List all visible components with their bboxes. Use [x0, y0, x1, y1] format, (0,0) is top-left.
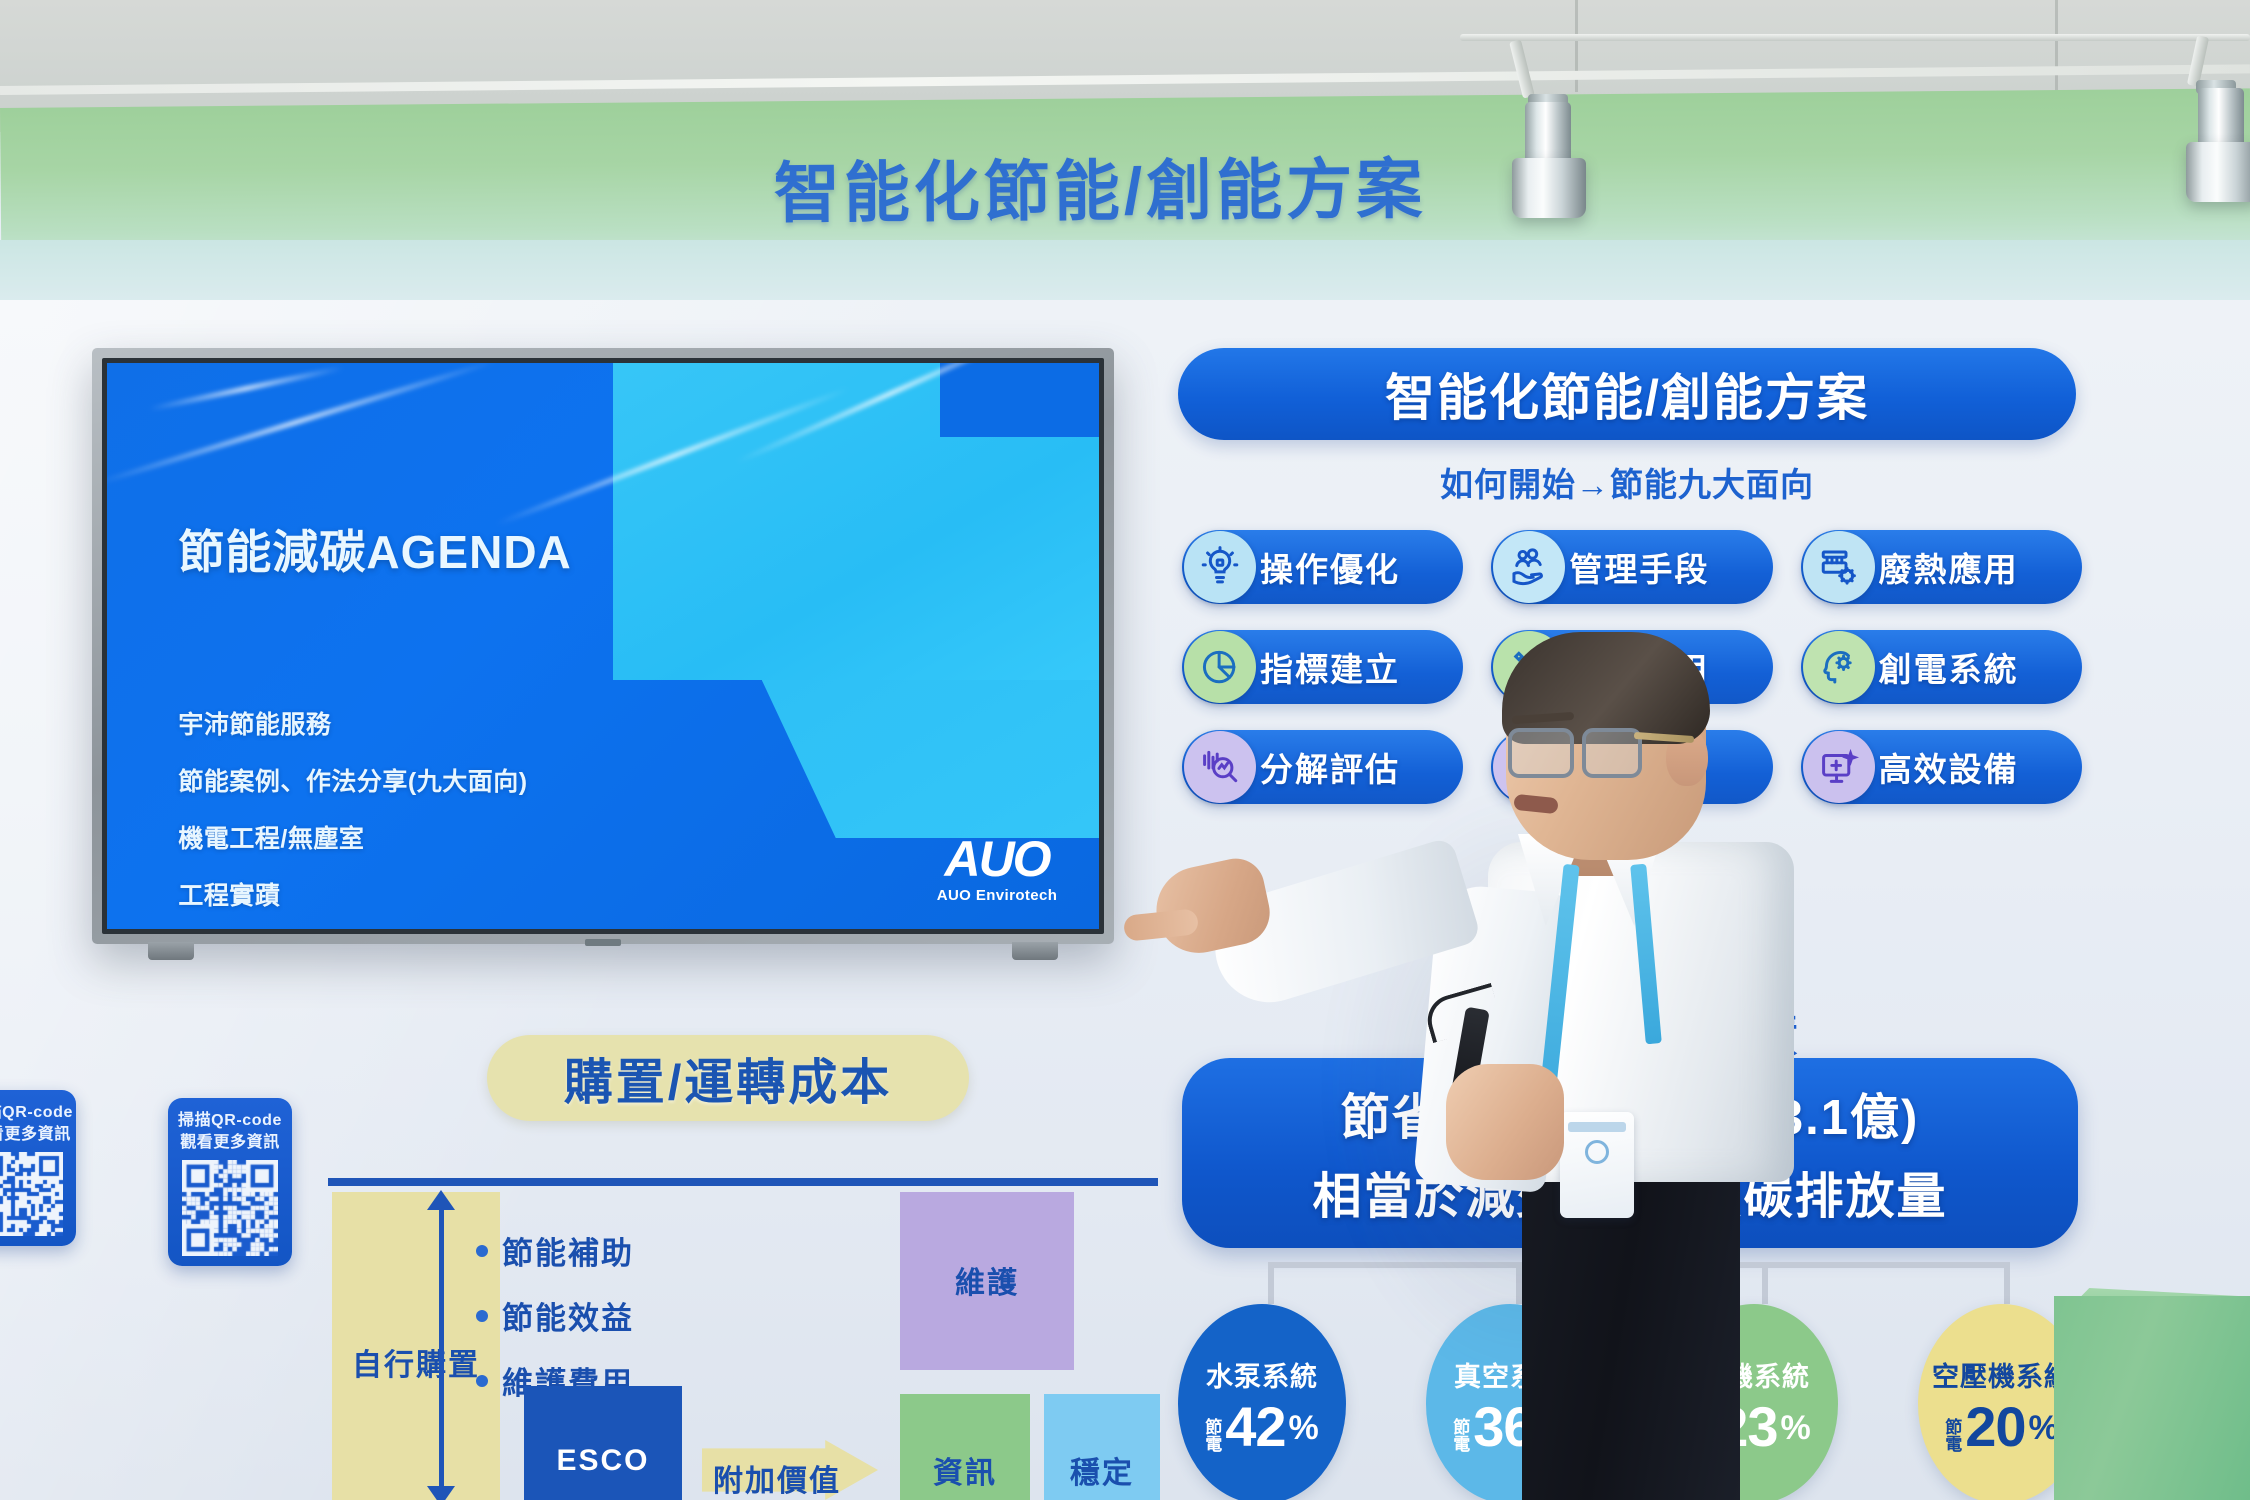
bar-label-maintenance: 維護	[900, 1258, 1074, 1302]
lightbulb-icon	[1184, 531, 1256, 603]
aspect-pill-label: 廢熱應用	[1879, 543, 2019, 591]
poster-header-pill: 智能化節能/創能方案	[1178, 348, 2076, 440]
slide-shape-cyan-lower	[762, 680, 1099, 838]
green-display-block	[2054, 1296, 2250, 1500]
hall-title: 智能化節能/創能方案	[700, 135, 1501, 237]
system-metric-label: 節電	[1205, 1419, 1222, 1453]
exhibition-scene: 智能化節能/創能方案 節能減碳AGENDA 宇沛節能服務 節能案例、作法分享(九…	[0, 0, 2250, 1500]
aspect-pill-3[interactable]: 廢熱應用	[1801, 530, 2082, 604]
lighting-track	[1460, 34, 2250, 41]
bullet-dot-icon	[476, 1375, 488, 1387]
qr-code-image	[0, 1152, 63, 1236]
spotlight-neck	[2198, 88, 2244, 150]
slide-streak	[148, 365, 343, 411]
presenter	[1230, 636, 1850, 1500]
arrow-stem	[439, 1204, 444, 1496]
presenter-glasses-left-lens	[1508, 728, 1574, 778]
monitor-power-led	[585, 939, 621, 946]
qr-card-line1: 掃描QR-code	[178, 1110, 282, 1132]
bar-label-information: 資訊	[900, 1448, 1030, 1492]
qr-card-partial[interactable]: 掃描QR-code 觀看更多資訊	[0, 1090, 76, 1246]
chart-top-rule	[328, 1178, 1158, 1186]
people-hand-icon	[1493, 531, 1565, 603]
bar-information: 資訊	[900, 1394, 1030, 1500]
bar-self-purchase: 自行購置	[332, 1192, 500, 1500]
auo-subtitle: AUO Envirotech	[937, 887, 1058, 904]
cost-section-title: 購置/運轉成本	[487, 1035, 969, 1121]
spotlight-head	[1512, 158, 1586, 218]
spotlight-neck	[1525, 102, 1571, 164]
cost-comparison-chart: 自行購置 節能補助 節能效益 維護費用 ESCO 附加價值 維護 資訊 穩定	[318, 1178, 1158, 1500]
system-name: 空壓機系統	[1932, 1355, 2072, 1394]
aspect-pill-label: 管理手段	[1569, 543, 1709, 591]
savings-bullet-text: 節能補助	[502, 1228, 634, 1273]
system-percent-value: 20	[1965, 1402, 2025, 1452]
poster-header-text: 智能化節能/創能方案	[1385, 358, 1869, 430]
aspect-pill-1[interactable]: 操作優化	[1182, 530, 1463, 604]
savings-bullet: 節能補助	[476, 1228, 634, 1273]
savings-bullet: 節能效益	[476, 1293, 634, 1338]
arrow-head-down-icon	[427, 1486, 455, 1500]
badge-photo-circle	[1585, 1140, 1609, 1164]
presenter-mic-hand	[1446, 1064, 1564, 1180]
spotlight-head	[2186, 142, 2250, 202]
monitor-mount-right	[1012, 942, 1058, 960]
display-monitor: 節能減碳AGENDA 宇沛節能服務 節能案例、作法分享(九大面向) 機電工程/無…	[92, 348, 1114, 944]
savings-bullet-text: 節能效益	[502, 1293, 634, 1338]
auo-logo: AUO AUO Envirotech	[937, 836, 1058, 904]
slide-bullet: 宇沛節能服務	[178, 705, 527, 741]
savings-arrow	[436, 1190, 446, 1500]
slide-streak	[107, 363, 495, 485]
slide-bullet: 工程實蹟	[178, 876, 527, 912]
poster-subtitle: 如何開始→節能九大面向	[1178, 458, 2076, 506]
aspect-pill-label: 高效設備	[1879, 743, 2019, 791]
badge-strip	[1568, 1122, 1626, 1132]
bar-label-self-purchase-line1: 自行購置	[332, 1340, 500, 1384]
qr-card-line1: 掃描QR-code	[0, 1102, 73, 1124]
slide-bullet-list: 宇沛節能服務 節能案例、作法分享(九大面向) 機電工程/無塵室 工程實蹟	[178, 705, 527, 929]
aspect-pill-label: 操作優化	[1260, 543, 1400, 591]
slide-bullet: 節能案例、作法分享(九大面向)	[178, 762, 527, 798]
monitor-bezel: 節能減碳AGENDA 宇沛節能服務 節能案例、作法分享(九大面向) 機電工程/無…	[102, 358, 1104, 934]
bullet-dot-icon	[476, 1310, 488, 1322]
auo-wordmark: AUO	[937, 836, 1058, 884]
bar-label-added-value: 附加價值	[702, 1456, 852, 1500]
slide-title: 節能減碳AGENDA	[178, 516, 571, 582]
slide-screen: 節能減碳AGENDA 宇沛節能服務 節能案例、作法分享(九大面向) 機電工程/無…	[107, 363, 1099, 929]
ceiling-panel-line	[2055, 0, 2058, 92]
cost-title-text: 購置/運轉成本	[564, 1043, 893, 1114]
factory-gear-icon	[1803, 531, 1875, 603]
system-metric-label: 節電	[1945, 1419, 1962, 1453]
qr-card[interactable]: 掃描QR-code 觀看更多資訊	[168, 1098, 292, 1266]
bullet-dot-icon	[476, 1245, 488, 1257]
system-value-row: 節電20%	[1945, 1402, 2059, 1452]
qr-card-line2: 觀看更多資訊	[0, 1124, 71, 1146]
bar-maintenance: 維護	[900, 1192, 1074, 1370]
bar-esco: ESCO	[524, 1386, 682, 1500]
bar-label-stability: 穩定	[1044, 1448, 1160, 1492]
aspect-pill-2[interactable]: 管理手段	[1491, 530, 1772, 604]
monitor-mount-left	[148, 942, 194, 960]
bar-label-esco: ESCO	[524, 1444, 682, 1478]
presenter-badge	[1560, 1112, 1634, 1218]
slide-bullet: 機電工程/無塵室	[178, 819, 527, 855]
aspect-pill-label: 創電系統	[1879, 643, 2019, 691]
slide-shape-corner	[940, 363, 1099, 437]
bar-stability: 穩定	[1044, 1394, 1160, 1500]
qr-code-image	[182, 1160, 278, 1256]
qr-card-line2: 觀看更多資訊	[180, 1132, 280, 1154]
